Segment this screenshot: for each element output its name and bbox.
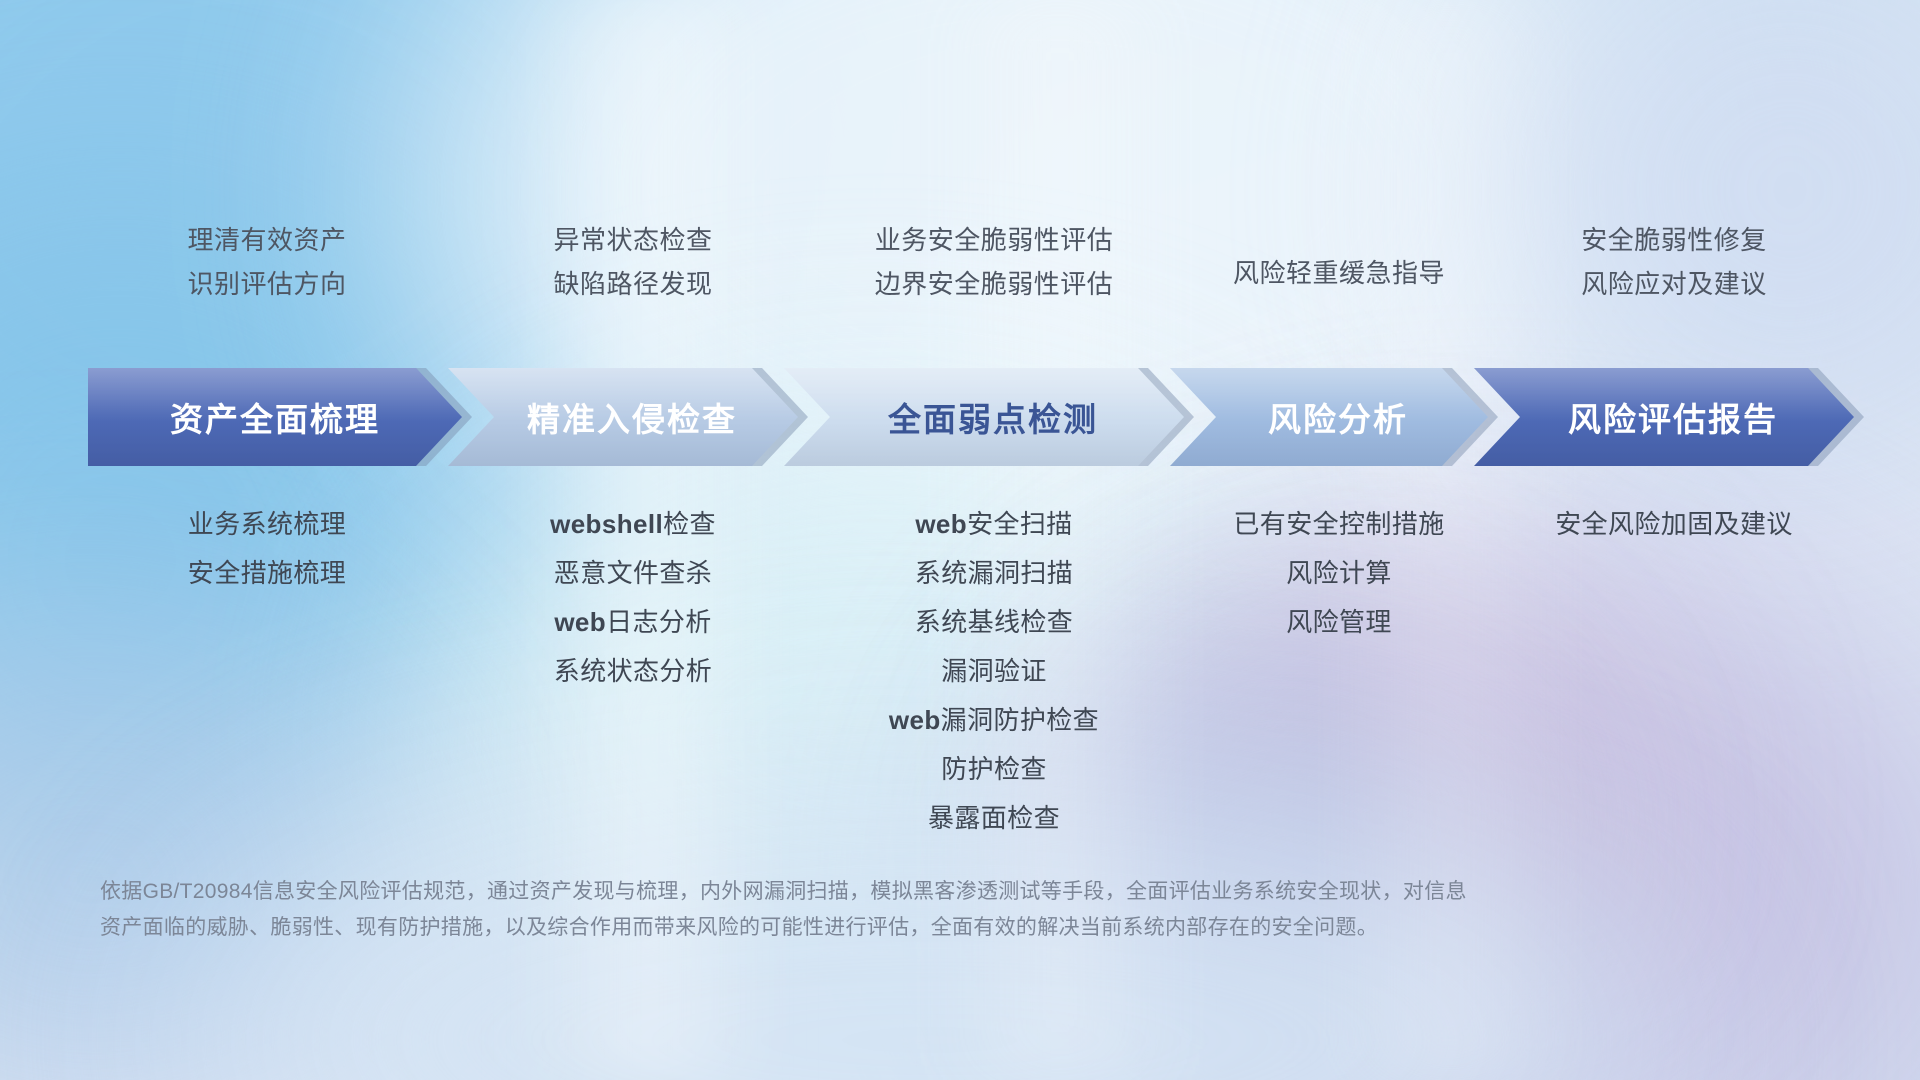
stage-item[interactable]: 暴露面检查 [928, 794, 1060, 843]
stage-item-text: 检查 [663, 509, 716, 539]
top-notes-risk-report: 安全脆弱性修复风险应对及建议 [1454, 218, 1894, 328]
stage-title-intrusion-check: 精准入侵检查 [527, 393, 737, 441]
top-note: 风险轻重缓急指导 [1233, 251, 1445, 295]
top-note: 安全脆弱性修复 [1581, 218, 1767, 262]
stage-item-text: 日志分析 [606, 607, 712, 637]
stage-item-keyword: webshell [550, 509, 663, 539]
stage-chevron-band: 资产全面梳理精准入侵检查全面弱点检测风险分析风险评估报告 [88, 368, 1848, 466]
stage-item[interactable]: web安全扫描 [915, 500, 1072, 549]
stage-item[interactable]: 恶意文件查杀 [554, 549, 712, 598]
stage-item[interactable]: 风险计算 [1286, 549, 1392, 598]
stage-item[interactable]: 防护检查 [941, 745, 1047, 794]
stage-chevron-risk-report[interactable]: 风险评估报告 [1474, 368, 1854, 466]
top-note: 缺陷路径发现 [553, 262, 712, 306]
top-note: 风险应对及建议 [1581, 262, 1767, 306]
top-note-row: 理清有效资产识别评估方向异常状态检查缺陷路径发现业务安全脆弱性评估边界安全脆弱性… [0, 218, 1920, 328]
stage-item[interactable]: 风险管理 [1286, 598, 1392, 647]
stage-title-risk-analysis: 风险分析 [1268, 393, 1408, 441]
stage-chevron-risk-analysis[interactable]: 风险分析 [1170, 368, 1488, 466]
footer-description: 依据GB/T20984信息安全风险评估规范，通过资产发现与梳理，内外网漏洞扫描，… [100, 874, 1740, 946]
footer-line-2: 资产面临的威胁、脆弱性、现有防护措施，以及综合作用而带来风险的可能性进行评估，全… [100, 910, 1740, 946]
stage-item[interactable]: 业务系统梳理 [188, 500, 346, 549]
stage-item[interactable]: web日志分析 [554, 598, 711, 647]
top-note: 理清有效资产 [187, 218, 346, 262]
stage-item[interactable]: webshell检查 [550, 500, 716, 549]
stage-item[interactable]: 安全风险加固及建议 [1555, 500, 1793, 549]
process-diagram: 理清有效资产识别评估方向异常状态检查缺陷路径发现业务安全脆弱性评估边界安全脆弱性… [0, 0, 1920, 1080]
stage-item-keyword: web [889, 705, 941, 735]
stage-chevron-weakness-detection[interactable]: 全面弱点检测 [784, 368, 1184, 466]
stage-item[interactable]: 系统状态分析 [554, 647, 712, 696]
stage-item-keyword: web [554, 607, 606, 637]
stage-item-text: 漏洞防护检查 [941, 705, 1099, 735]
stage-item[interactable]: 安全措施梳理 [188, 549, 346, 598]
top-note: 业务安全脆弱性评估 [875, 218, 1114, 262]
stage-title-asset-inventory: 资产全面梳理 [170, 393, 380, 441]
stage-chevron-intrusion-check[interactable]: 精准入侵检查 [448, 368, 798, 466]
stage-item[interactable]: 系统漏洞扫描 [915, 549, 1073, 598]
stage-title-weakness-detection: 全面弱点检测 [888, 393, 1098, 441]
stage-item[interactable]: web漏洞防护检查 [889, 696, 1099, 745]
stage-item[interactable]: 已有安全控制措施 [1233, 500, 1444, 549]
stage-item[interactable]: 漏洞验证 [941, 647, 1047, 696]
footer-line-1: 依据GB/T20984信息安全风险评估规范，通过资产发现与梳理，内外网漏洞扫描，… [100, 874, 1740, 910]
stage-items-risk-report: 安全风险加固及建议 [1444, 500, 1904, 549]
stage-item-text: 安全扫描 [967, 509, 1073, 539]
stage-chevron-asset-inventory[interactable]: 资产全面梳理 [88, 368, 462, 466]
stage-item-keyword: web [915, 509, 967, 539]
top-note: 异常状态检查 [553, 218, 712, 262]
top-note: 识别评估方向 [187, 262, 346, 306]
top-note: 边界安全脆弱性评估 [875, 262, 1114, 306]
stage-title-risk-report: 风险评估报告 [1568, 393, 1778, 441]
stage-item[interactable]: 系统基线检查 [915, 598, 1073, 647]
